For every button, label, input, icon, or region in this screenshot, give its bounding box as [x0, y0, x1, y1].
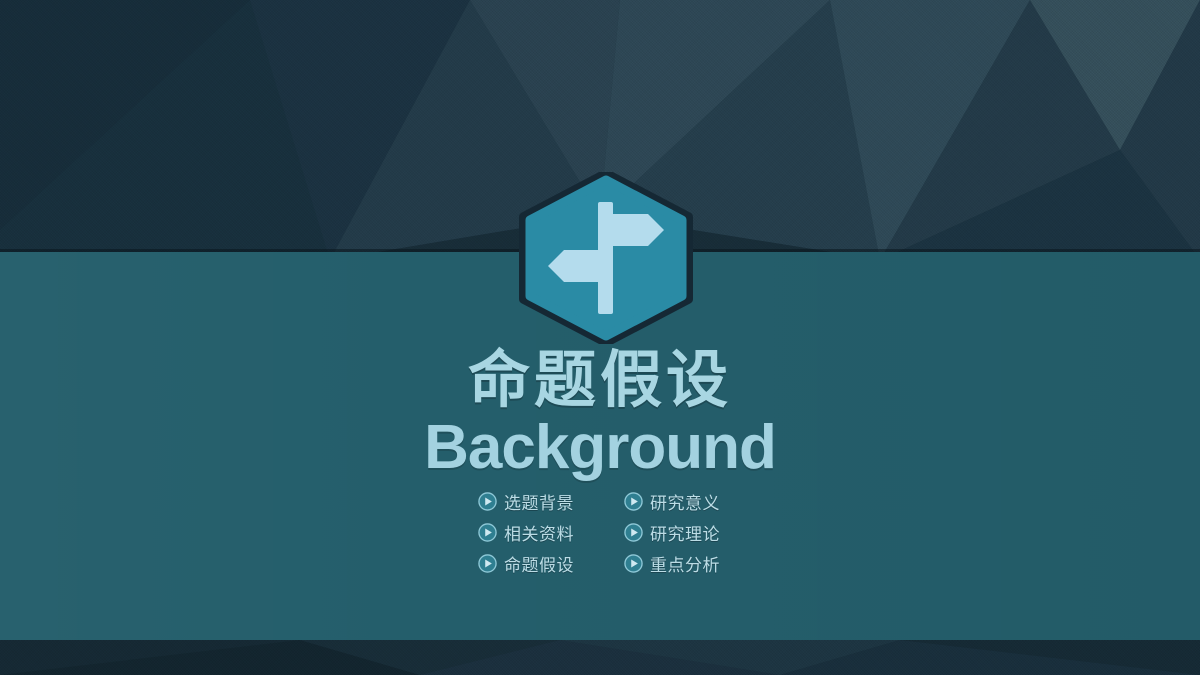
- menu-item-label: 选题背景: [504, 489, 574, 514]
- agenda-menu: 选题背景 研究意义 相关资料: [478, 486, 768, 579]
- menu-item-5[interactable]: 重点分析: [624, 548, 770, 579]
- presentation-slide: 命题假设 Background 选题背景 研究意义: [0, 0, 1200, 675]
- play-circle-icon: [478, 523, 497, 542]
- menu-item-label: 相关资料: [504, 520, 574, 545]
- menu-item-4[interactable]: 命题假设: [478, 548, 624, 579]
- play-circle-icon: [624, 554, 643, 573]
- menu-item-0[interactable]: 选题背景: [478, 486, 624, 517]
- play-circle-icon: [624, 492, 643, 511]
- menu-item-2[interactable]: 相关资料: [478, 517, 624, 548]
- signpost-direction-icon: [516, 172, 696, 344]
- page-title-en: Background: [0, 416, 1200, 479]
- menu-item-label: 重点分析: [650, 551, 720, 576]
- menu-item-label: 命题假设: [504, 551, 574, 576]
- play-circle-icon: [624, 523, 643, 542]
- menu-item-label: 研究理论: [650, 520, 720, 545]
- title-block: 命题假设 Background: [0, 348, 1200, 479]
- play-circle-icon: [478, 492, 497, 511]
- page-title-cn: 命题假设: [0, 348, 1200, 414]
- play-circle-icon: [478, 554, 497, 573]
- menu-item-label: 研究意义: [650, 489, 720, 514]
- menu-item-1[interactable]: 研究意义: [624, 486, 770, 517]
- menu-item-3[interactable]: 研究理论: [624, 517, 770, 548]
